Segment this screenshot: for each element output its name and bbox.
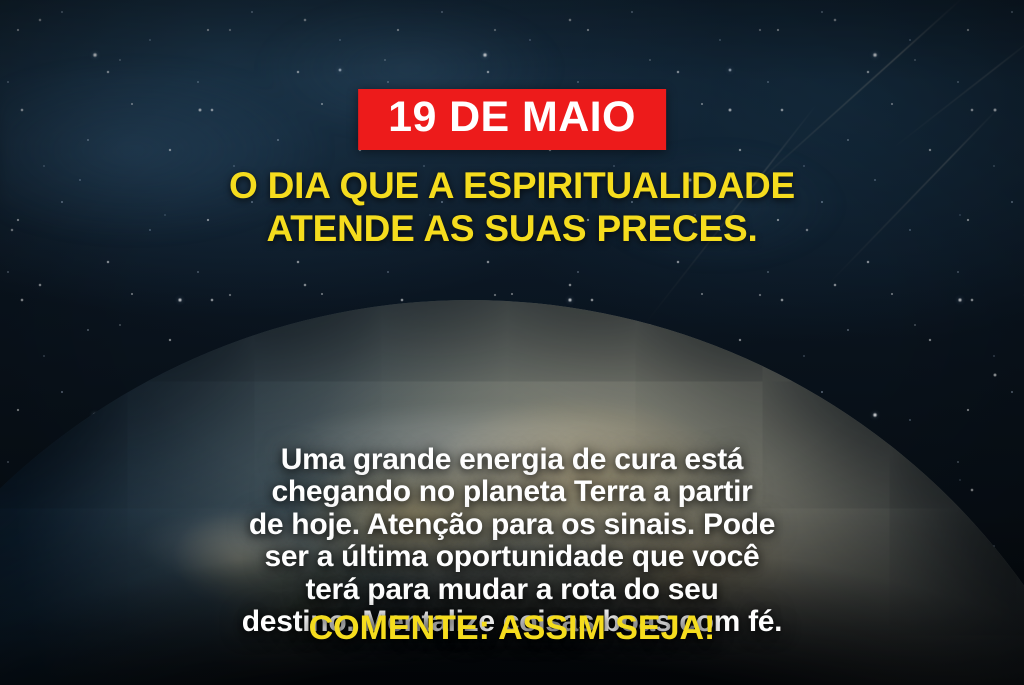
date-banner-label: 19 DE MAIO xyxy=(388,96,636,139)
poster-content-layer: 19 DE MAIO O DIA QUE A ESPIRITUALIDADE A… xyxy=(0,0,1024,685)
body-line-4: ser a última oportunidade que você xyxy=(56,541,968,573)
headline-line-1: O DIA QUE A ESPIRITUALIDADE xyxy=(44,165,980,208)
call-to-action-text: COMENTE: ASSIM SEJA! xyxy=(0,611,1024,645)
body-line-5: terá para mudar a rota do seu xyxy=(56,574,968,606)
poster-canvas: 19 DE MAIO O DIA QUE A ESPIRITUALIDADE A… xyxy=(0,0,1024,685)
body-line-1: Uma grande energia de cura está xyxy=(56,444,968,476)
body-line-3: de hoje. Atenção para os sinais. Pode xyxy=(56,509,968,541)
date-banner: 19 DE MAIO xyxy=(358,89,666,150)
body-line-2: chegando no planeta Terra a partir xyxy=(56,476,968,508)
headline-line-2: ATENDE AS SUAS PRECES. xyxy=(44,208,980,251)
headline: O DIA QUE A ESPIRITUALIDADE ATENDE AS SU… xyxy=(0,165,1024,251)
